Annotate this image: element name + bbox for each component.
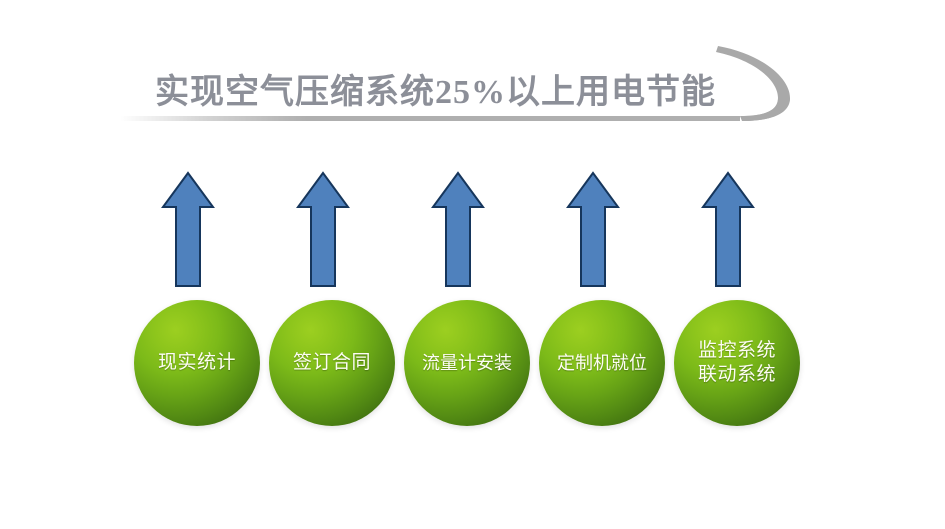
process-node-1[interactable]: 现实统计: [134, 300, 260, 426]
process-node-label: 现实统计: [158, 351, 236, 375]
process-node-label: 签订合同: [293, 351, 371, 375]
arrow-up-icon: [566, 171, 620, 288]
process-node-3[interactable]: 流量计安装: [404, 300, 530, 426]
slide-canvas: 实现空气压缩系统25%以上用电节能 现实统计 签订合同 流量计安装 定制机就位 …: [0, 0, 945, 529]
process-node-5[interactable]: 监控系统 联动系统: [674, 300, 800, 426]
arrow-up-icon: [296, 171, 350, 288]
process-node-label: 监控系统 联动系统: [674, 339, 800, 387]
title-banner: 实现空气压缩系统25%以上用电节能: [0, 20, 945, 140]
process-node-4[interactable]: 定制机就位: [539, 300, 665, 426]
process-node-label: 定制机就位: [557, 352, 647, 375]
arrow-up-icon: [701, 171, 755, 288]
arrow-up-icon: [161, 171, 215, 288]
process-node-2[interactable]: 签订合同: [269, 300, 395, 426]
process-node-label: 流量计安装: [422, 352, 512, 375]
page-title: 实现空气压缩系统25%以上用电节能: [155, 68, 755, 118]
arrow-up-icon: [431, 171, 485, 288]
